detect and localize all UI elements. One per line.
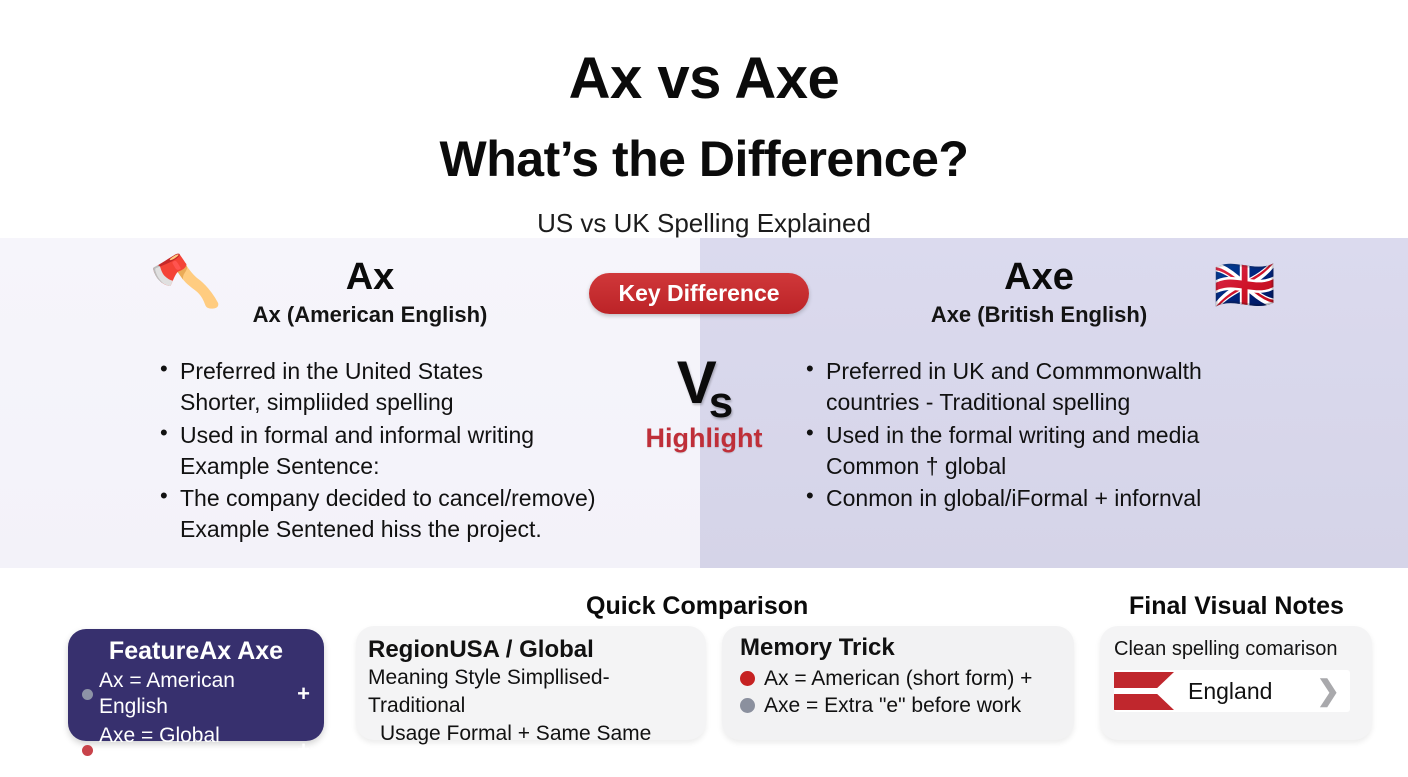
bullet-dot-red-icon	[82, 745, 93, 756]
bullet-dot-gray-icon	[82, 689, 93, 700]
vs-label: Vs	[620, 358, 788, 421]
highlight-label: Highlight	[620, 423, 788, 454]
list-item: Preferred in the United States Shorter, …	[160, 356, 660, 419]
feature-card-row: Ax = American English +	[82, 668, 310, 722]
heading-final-visual-notes: Final Visual Notes	[1129, 592, 1344, 621]
memory-trick-row-text: Ax = American (short form) +	[764, 665, 1032, 692]
bullet-main: Preferred in the United States	[180, 358, 483, 384]
list-item: The company decided to cancel/remove) Ex…	[160, 483, 660, 546]
region-card-line-1: Meaning Style Simpllised-Traditional	[368, 664, 694, 721]
chevron-right-icon: ❯	[1317, 677, 1350, 705]
list-item: Used in formal and informal writing Exam…	[160, 420, 660, 483]
bullet-dot-gray-icon	[740, 698, 755, 713]
england-label: England	[1188, 678, 1272, 705]
heading-quick-comparison: Quick Comparison	[586, 592, 808, 621]
region-card-line-2: Usage Formal + Same Same	[368, 720, 694, 748]
bullet-continuation: Conmon in global/iFormal + infornval	[826, 483, 1306, 514]
plus-icon: +	[289, 680, 310, 708]
feature-card-row: Axe = Global English +	[82, 723, 310, 777]
bullet-main: Used in the formal writing and media	[826, 422, 1199, 448]
vs-letter-s: s	[709, 385, 731, 421]
bullet-continuation: Shorter, simpliided spelling	[180, 387, 660, 418]
panel-american-bullets: Preferred in the United States Shorter, …	[160, 356, 660, 547]
page-header: Ax vs Axe What’s the Difference? US vs U…	[0, 0, 1408, 238]
panel-british-bullets: Preferred in UK and Commmonwalth countri…	[806, 356, 1306, 515]
bullet-main: Preferred in UK and Commmonwalth	[826, 358, 1202, 384]
england-flag-icon	[1114, 670, 1174, 712]
page-subtitle: US vs UK Spelling Explained	[537, 208, 871, 239]
memory-trick-card-title: Memory Trick	[740, 634, 1060, 663]
feature-card-row-text: Ax = American English	[99, 668, 289, 722]
england-flag-chip: England ❯	[1114, 670, 1350, 712]
memory-trick-card: Memory Trick Ax = American (short form) …	[722, 626, 1074, 740]
list-item: Preferred in UK and Commmonwalth countri…	[806, 356, 1306, 419]
key-difference-badge: Key Difference	[589, 273, 809, 314]
feature-card-title: FeatureAx Axe	[82, 638, 310, 666]
region-card: RegionUSA / Global Meaning Style Simplli…	[356, 626, 706, 740]
bullet-main: The company decided to cancel/remove)	[180, 485, 596, 511]
memory-trick-row-text: Axe = Extra "e" before work	[764, 692, 1021, 719]
bullet-dot-red-icon	[740, 671, 755, 686]
feature-card: FeatureAx Axe Ax = American English + Ax…	[68, 629, 324, 741]
bullet-continuation: Common † global	[826, 451, 1306, 482]
bullet-main: Used in formal and informal writing	[180, 422, 534, 448]
feature-card-row-text: Axe = Global English	[99, 723, 289, 777]
bullet-continuation: countries - Traditional spelling	[826, 387, 1306, 418]
page-title-primary: Ax vs Axe	[569, 50, 840, 108]
memory-trick-row: Ax = American (short form) +	[740, 665, 1060, 692]
bullet-continuation: Example Sentened hiss the project.	[180, 514, 660, 545]
bullet-continuation: Example Sentence:	[180, 451, 660, 482]
final-visual-notes-card: Clean spelling comarison England ❯	[1100, 626, 1372, 740]
list-item: Used in the formal writing and media Com…	[806, 420, 1306, 483]
plus-icon: +	[289, 736, 310, 764]
page-title-secondary: What’s the Difference?	[440, 134, 969, 184]
vs-block: Vs Highlight	[620, 358, 788, 454]
list-item-continuation: Conmon in global/iFormal + infornval	[806, 483, 1306, 514]
memory-trick-row: Axe = Extra "e" before work	[740, 692, 1060, 719]
region-card-title: RegionUSA / Global	[368, 636, 694, 664]
final-card-note: Clean spelling comarison	[1114, 636, 1358, 662]
